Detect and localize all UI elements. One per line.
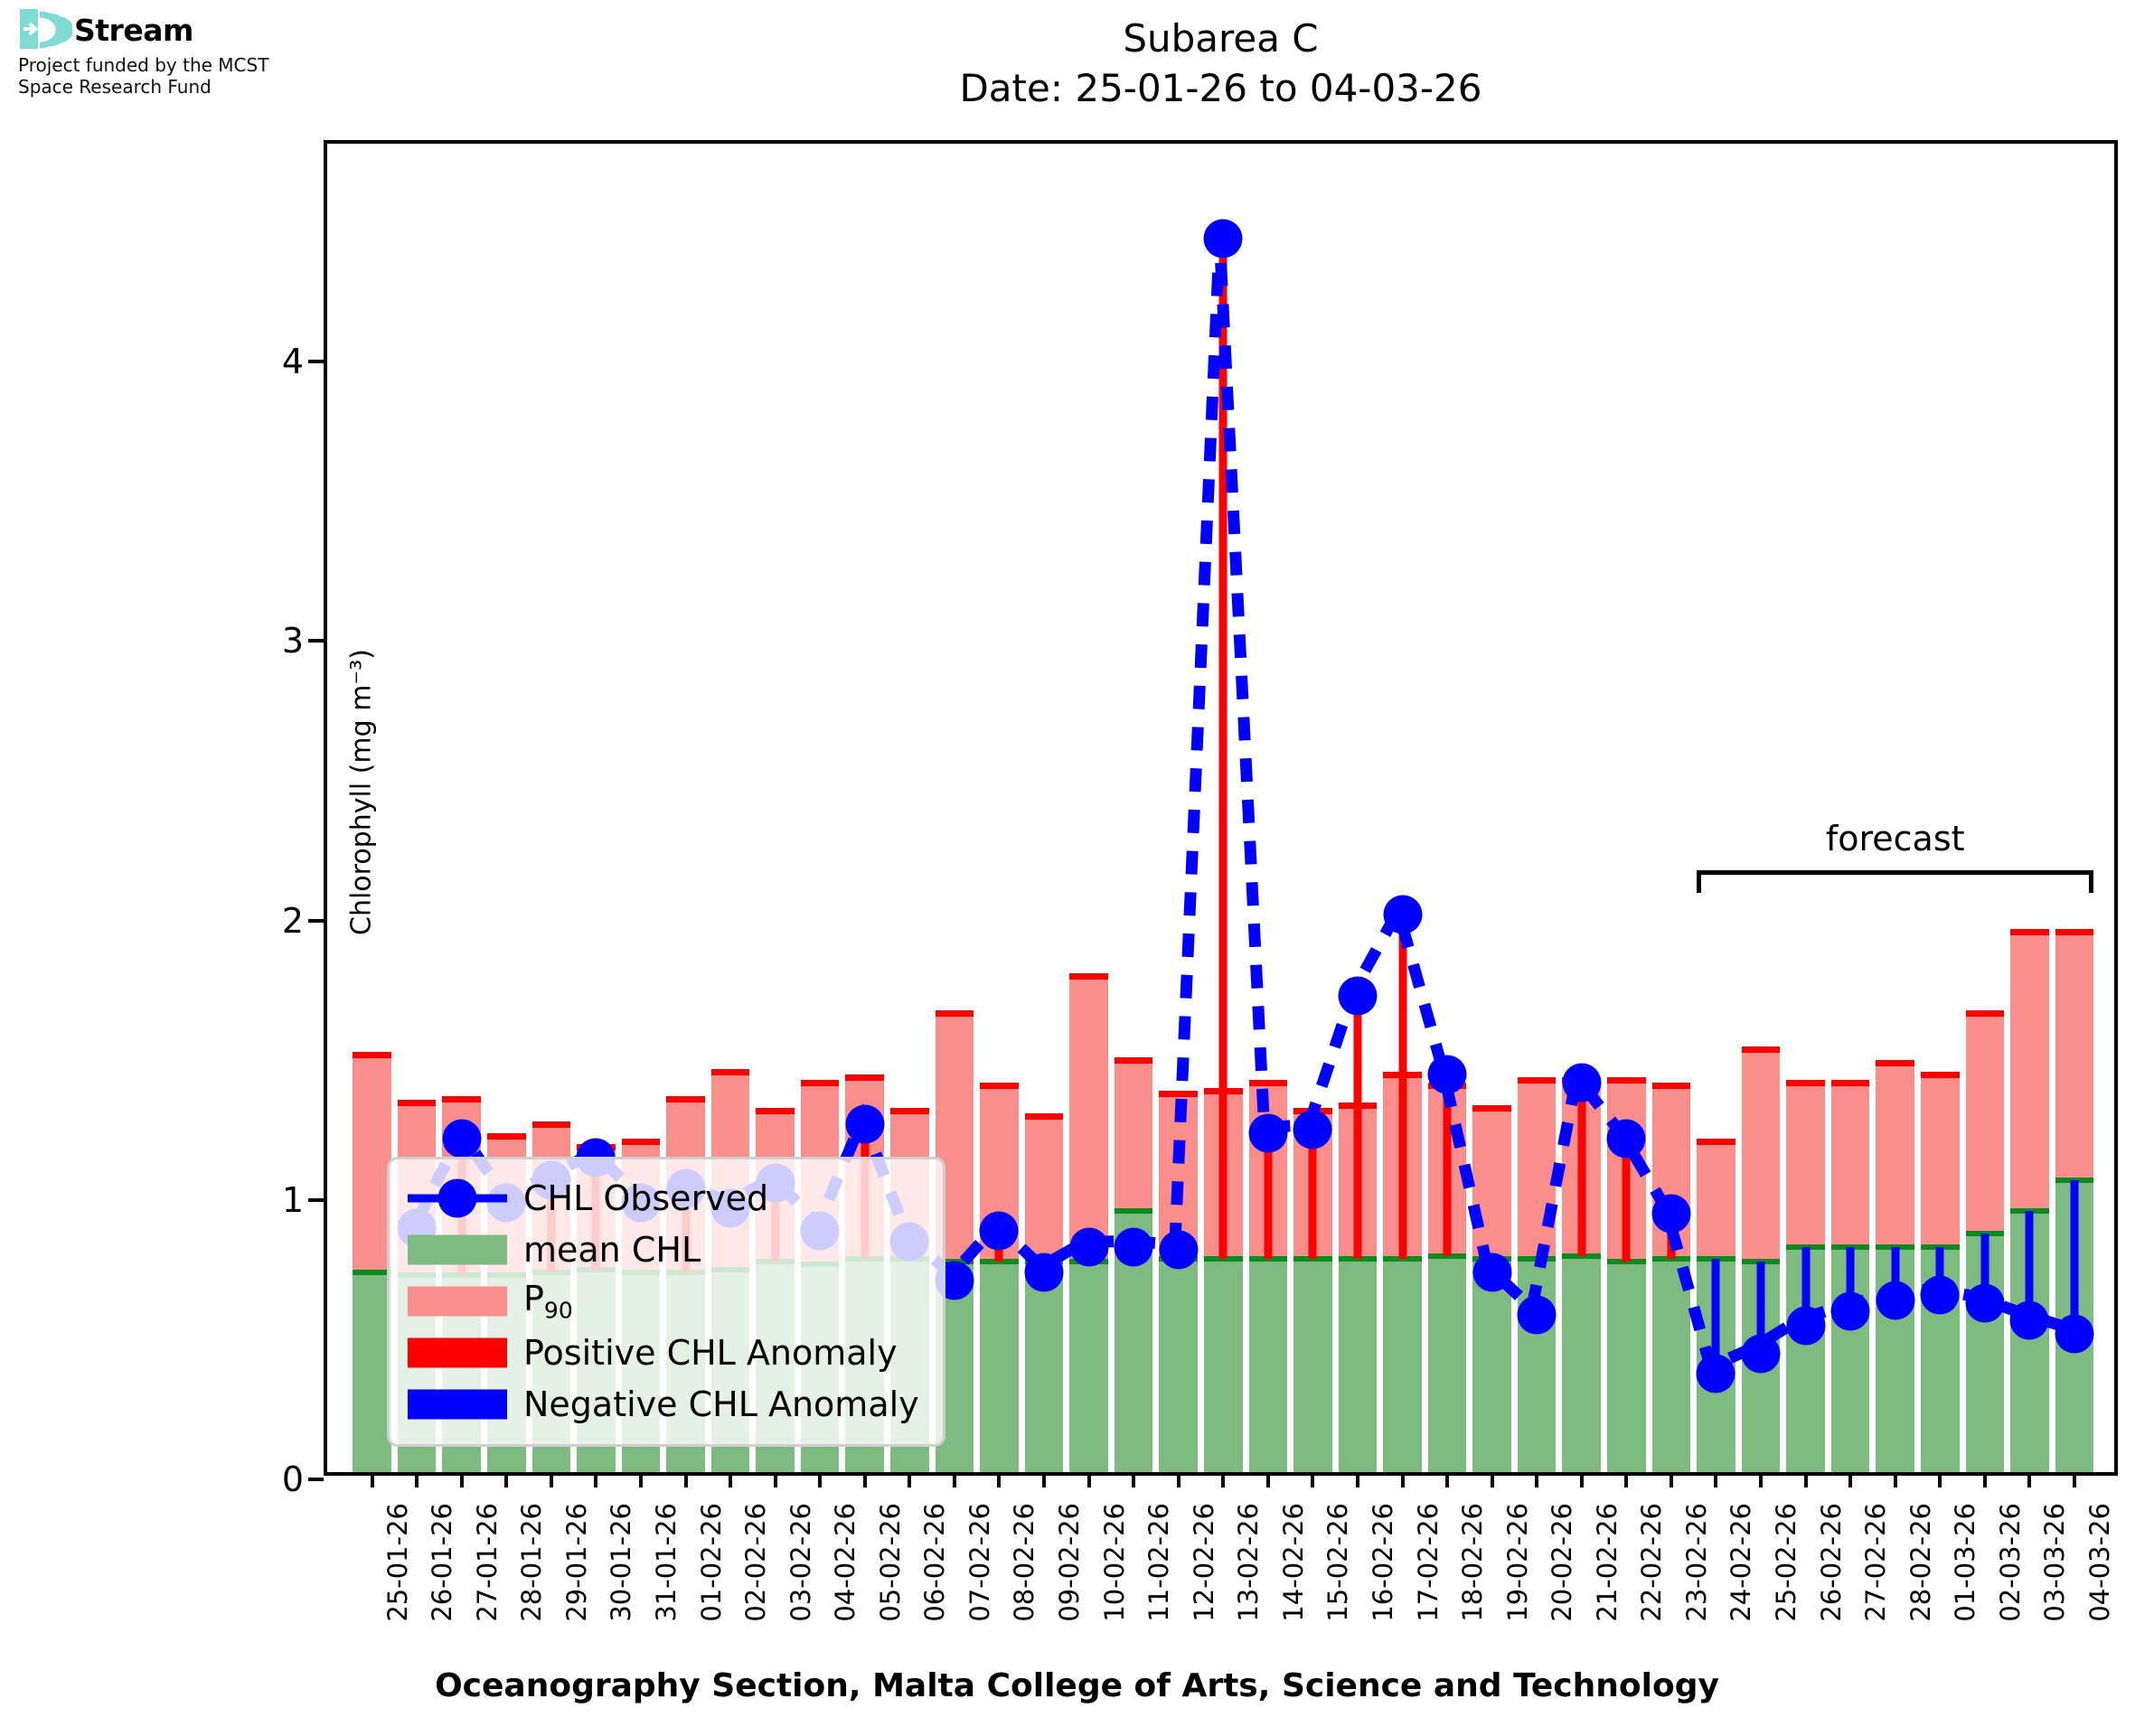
x-axis-tick-mark	[639, 1472, 643, 1487]
legend-label: CHL Observed	[523, 1178, 768, 1218]
bar-p90-cap	[980, 1083, 1019, 1089]
bar-p90-cap	[1697, 1139, 1735, 1145]
bar-p90-cap	[711, 1069, 750, 1075]
legend-label: Positive CHL Anomaly	[523, 1333, 898, 1373]
x-axis-tick-mark	[1759, 1472, 1763, 1487]
x-axis-tick-label: 14-02-26	[1278, 1503, 1309, 1622]
x-axis-tick-label: 08-02-26	[1009, 1503, 1039, 1622]
chl-observed-marker	[1831, 1292, 1870, 1331]
legend-label: Negative CHL Anomaly	[523, 1384, 919, 1424]
x-axis-tick-label: 15-02-26	[1322, 1503, 1353, 1622]
bar-p90-cap	[1607, 1077, 1646, 1084]
legend-item: Positive CHL Anomaly	[408, 1327, 919, 1378]
plot-area: Chlorophyll (mg m⁻³) 01234 25-01-2626-01…	[324, 140, 2118, 1476]
bar-mean-chl	[1652, 1259, 1691, 1472]
x-axis-tick-label: 30-01-26	[606, 1503, 636, 1622]
bar-mean-chl	[1428, 1256, 1467, 1472]
bar-mean-cap	[1518, 1256, 1557, 1262]
bar-p90	[2010, 932, 2049, 1211]
bar-p90-cap	[1159, 1091, 1198, 1097]
legend-swatch-icon	[408, 1327, 507, 1378]
legend-item: mean CHL	[408, 1224, 919, 1275]
chl-observed-marker	[1428, 1055, 1467, 1093]
bar-p90	[353, 1055, 391, 1272]
x-axis-tick-mark	[1535, 1472, 1538, 1487]
x-axis-tick-mark	[1848, 1472, 1852, 1487]
bar-p90-cap	[1069, 973, 1108, 980]
x-axis-tick-label: 17-02-26	[1413, 1503, 1444, 1622]
brand-logo-block: Stream Project funded by the MCST Space …	[18, 7, 316, 98]
bar-p90	[1921, 1074, 1960, 1248]
chart-title: Subarea C Date: 25-01-26 to 04-03-26	[324, 14, 2118, 113]
x-axis-tick-label: 16-02-26	[1368, 1503, 1398, 1622]
bar-p90-cap	[1652, 1083, 1691, 1089]
chl-observed-marker	[1607, 1119, 1646, 1158]
bar-p90	[1472, 1108, 1511, 1259]
chl-observed-marker	[1651, 1195, 1690, 1234]
bar-mean-chl	[1159, 1259, 1198, 1472]
bar-p90-cap	[1786, 1080, 1825, 1086]
x-axis-tick-mark	[2027, 1472, 2031, 1487]
bar-mean-cap	[353, 1270, 391, 1275]
brand-subtitle-line1: Project funded by the MCST	[18, 55, 316, 77]
x-axis-tick-label: 03-02-26	[785, 1503, 816, 1622]
x-axis-tick-mark	[1356, 1472, 1359, 1487]
x-axis-tick-mark	[997, 1472, 1001, 1487]
bar-p90	[1786, 1083, 1825, 1247]
x-axis-tick-label: 07-02-26	[964, 1503, 995, 1622]
bar-p90	[1518, 1080, 1557, 1259]
x-axis-tick-label: 20-02-26	[1547, 1503, 1577, 1622]
bar-p90	[1966, 1013, 2005, 1234]
bar-p90-cap	[1472, 1105, 1511, 1112]
bar-mean-chl	[1249, 1259, 1288, 1472]
chl-observed-marker	[442, 1119, 481, 1158]
bar-p90-cap	[1921, 1072, 1960, 1078]
x-axis-tick-label: 21-02-26	[1592, 1503, 1623, 1622]
chl-observed-marker	[1293, 1111, 1332, 1150]
chl-observed-marker	[1786, 1306, 1825, 1345]
chl-observed-marker	[2010, 1300, 2049, 1339]
x-axis-tick-label: 02-02-26	[740, 1503, 771, 1622]
stream-waves-icon	[18, 7, 72, 52]
chl-observed-marker	[1383, 896, 1422, 934]
bar-mean-chl	[980, 1262, 1019, 1472]
bar-p90	[1831, 1083, 1870, 1247]
x-axis-tick-mark	[1624, 1472, 1628, 1487]
legend-label: P90	[523, 1279, 573, 1324]
x-axis-tick-mark	[1804, 1472, 1808, 1487]
x-axis-tick-mark	[594, 1472, 597, 1487]
x-axis-tick-mark	[371, 1472, 374, 1487]
bar-mean-cap	[1115, 1208, 1153, 1214]
bar-p90-cap	[353, 1052, 391, 1058]
chl-observed-marker	[1921, 1275, 1960, 1314]
x-axis-tick-mark	[504, 1472, 508, 1487]
legend-swatch-icon	[408, 1275, 507, 1327]
x-axis-tick-mark	[415, 1472, 419, 1487]
legend-item: CHL Observed	[408, 1172, 919, 1224]
chl-observed-marker	[1876, 1281, 1914, 1320]
y-axis-tick-label: 1	[282, 1180, 324, 1220]
brand-subtitle-line2: Space Research Fund	[18, 77, 316, 99]
positive-anomaly-stem	[1219, 239, 1227, 1259]
x-axis-tick-label: 31-01-26	[651, 1503, 682, 1622]
x-axis-tick-label: 04-02-26	[830, 1503, 861, 1622]
x-axis-tick-label: 23-02-26	[1681, 1503, 1712, 1622]
x-axis-tick-label: 27-01-26	[472, 1503, 503, 1622]
x-axis-tick-mark	[1087, 1472, 1091, 1487]
x-axis-tick-mark	[1938, 1472, 1942, 1487]
x-axis-tick-label: 01-02-26	[696, 1503, 727, 1622]
x-axis-tick-mark	[1983, 1472, 1987, 1487]
chl-observed-marker	[1338, 977, 1377, 1016]
x-axis-tick-mark	[1714, 1472, 1717, 1487]
bar-p90	[1697, 1141, 1735, 1259]
bar-p90-cap	[936, 1010, 974, 1017]
x-axis-tick-mark	[1491, 1472, 1494, 1487]
bar-p90-cap	[442, 1096, 481, 1103]
positive-anomaly-stem	[1444, 1074, 1452, 1256]
bar-mean-chl	[1607, 1262, 1646, 1472]
x-axis-tick-mark	[818, 1472, 822, 1487]
bar-p90-cap	[532, 1121, 571, 1128]
bar-p90	[1876, 1063, 1914, 1247]
chl-observed-marker	[1069, 1228, 1108, 1267]
y-axis-tick-label: 2	[282, 901, 324, 941]
bar-p90-cap	[1518, 1077, 1557, 1084]
brand-name: Stream	[74, 15, 193, 45]
legend-swatch-icon	[408, 1378, 507, 1430]
bar-mean-chl	[353, 1272, 391, 1472]
x-axis-tick-label: 19-02-26	[1502, 1503, 1533, 1622]
x-axis-tick-label: 03-03-26	[2039, 1503, 2070, 1622]
x-axis-tick-label: 26-02-26	[1816, 1503, 1847, 1622]
x-axis-tick-mark	[550, 1472, 553, 1487]
bar-p90-cap	[1025, 1113, 1064, 1120]
bar-p90-cap	[1966, 1010, 2005, 1017]
positive-anomaly-stem	[1577, 1083, 1585, 1256]
x-axis-tick-label: 18-02-26	[1457, 1503, 1488, 1622]
y-axis-tick-label: 3	[282, 621, 324, 661]
bar-p90-cap	[801, 1080, 840, 1086]
negative-anomaly-stem	[2070, 1180, 2078, 1334]
x-axis-tick-mark	[1670, 1472, 1673, 1487]
chl-observed-marker	[1204, 220, 1243, 258]
chl-observed-marker	[1965, 1284, 2004, 1323]
bar-p90-cap	[1831, 1080, 1870, 1086]
x-axis-tick-label: 09-02-26	[1054, 1503, 1085, 1622]
x-axis-tick-mark	[1177, 1472, 1180, 1487]
x-axis-tick-mark	[953, 1472, 956, 1487]
bar-p90-cap	[890, 1108, 929, 1114]
x-axis-tick-mark	[1042, 1472, 1046, 1487]
y-axis-tick-label: 0	[282, 1459, 324, 1499]
x-axis-tick-label: 06-02-26	[919, 1503, 950, 1622]
x-axis-tick-mark	[863, 1472, 867, 1487]
bar-mean-chl	[1339, 1259, 1378, 1472]
chl-observed-marker	[1518, 1295, 1557, 1334]
chl-observed-marker	[1159, 1231, 1198, 1270]
bar-p90	[1069, 976, 1108, 1261]
bar-p90-cap	[2055, 929, 2094, 935]
x-axis-tick-label: 25-01-26	[382, 1503, 413, 1622]
positive-anomaly-stem	[1353, 996, 1361, 1259]
bar-p90-cap	[1249, 1080, 1288, 1086]
x-axis-tick-label: 04-03-26	[2084, 1503, 2115, 1622]
figure-footer: Oceanography Section, Malta College of A…	[0, 1667, 2154, 1704]
bar-p90-cap	[622, 1139, 661, 1145]
bar-p90-cap	[666, 1096, 705, 1103]
bar-p90-cap	[2010, 929, 2049, 935]
bar-mean-chl	[1383, 1259, 1422, 1472]
chart-legend: CHL Observedmean CHLP90Positive CHL Anom…	[387, 1157, 945, 1447]
legend-swatch-icon	[408, 1172, 507, 1224]
legend-swatch-icon	[408, 1224, 507, 1275]
bar-p90	[1742, 1049, 1781, 1262]
bar-mean-chl	[1562, 1256, 1601, 1472]
chl-observed-marker	[1248, 1113, 1287, 1152]
bar-p90-cap	[398, 1100, 437, 1106]
x-axis-tick-mark	[2073, 1472, 2076, 1487]
legend-item: P90	[408, 1275, 919, 1327]
x-axis-tick-label: 11-02-26	[1143, 1503, 1174, 1622]
x-axis-tick-mark	[729, 1472, 732, 1487]
bar-p90	[1025, 1116, 1064, 1262]
chl-observed-marker	[980, 1211, 1019, 1250]
x-axis-tick-mark	[1894, 1472, 1897, 1487]
x-axis-tick-label: 01-03-26	[1950, 1503, 1980, 1622]
x-axis-tick-mark	[1580, 1472, 1584, 1487]
x-axis-tick-mark	[1401, 1472, 1405, 1487]
bar-p90-cap	[1115, 1057, 1153, 1064]
x-axis-tick-mark	[1221, 1472, 1225, 1487]
chl-observed-marker	[1697, 1354, 1735, 1393]
x-axis-tick-label: 10-02-26	[1099, 1503, 1130, 1622]
x-axis-tick-mark	[684, 1472, 688, 1487]
legend-label: mean CHL	[523, 1230, 701, 1270]
chl-observed-marker	[845, 1105, 884, 1144]
bar-mean-chl	[1204, 1259, 1243, 1472]
x-axis-tick-mark	[1445, 1472, 1449, 1487]
bar-mean-chl	[1025, 1262, 1064, 1472]
x-axis-tick-label: 02-03-26	[1995, 1503, 2026, 1622]
forecast-bracket	[1697, 870, 2093, 893]
bar-p90-cap	[487, 1133, 526, 1140]
chl-observed-marker	[1742, 1334, 1781, 1373]
x-axis-tick-label: 27-02-26	[1860, 1503, 1891, 1622]
x-axis-tick-label: 13-02-26	[1233, 1503, 1264, 1622]
bar-p90-cap	[1876, 1060, 1914, 1066]
y-axis-tick-label: 4	[282, 342, 324, 381]
x-axis-tick-label: 29-01-26	[561, 1503, 592, 1622]
x-axis-tick-label: 24-02-26	[1726, 1503, 1756, 1622]
x-axis-tick-mark	[774, 1472, 777, 1487]
x-axis-tick-mark	[460, 1472, 464, 1487]
x-axis-tick-label: 05-02-26	[875, 1503, 906, 1622]
x-axis-tick-label: 28-01-26	[516, 1503, 547, 1622]
bar-p90	[2055, 932, 2094, 1180]
forecast-label: forecast	[1826, 819, 1965, 859]
bar-p90-cap	[1742, 1046, 1781, 1053]
chl-observed-marker	[1562, 1063, 1601, 1102]
x-axis-tick-mark	[1311, 1472, 1314, 1487]
bar-mean-chl	[1518, 1259, 1557, 1472]
chart-title-line1: Subarea C	[324, 14, 2118, 64]
x-axis-tick-mark	[908, 1472, 911, 1487]
chl-observed-marker	[1025, 1253, 1064, 1292]
x-axis-tick-label: 25-02-26	[1771, 1503, 1801, 1622]
bar-mean-chl	[1069, 1262, 1108, 1472]
bar-p90-cap	[756, 1108, 795, 1114]
x-axis-tick-mark	[1132, 1472, 1135, 1487]
chl-observed-marker	[1115, 1228, 1153, 1267]
positive-anomaly-stem	[1398, 915, 1406, 1258]
x-axis-tick-label: 22-02-26	[1636, 1503, 1667, 1622]
bar-p90-cap	[845, 1074, 884, 1081]
legend-item: Negative CHL Anomaly	[408, 1378, 919, 1430]
x-axis-tick-label: 12-02-26	[1189, 1503, 1219, 1622]
x-axis-tick-label: 28-02-26	[1905, 1503, 1936, 1622]
bar-mean-chl	[1293, 1259, 1332, 1472]
chl-observed-marker	[2055, 1315, 2093, 1354]
chart-title-line2: Date: 25-01-26 to 04-03-26	[324, 64, 2118, 114]
x-axis-tick-label: 26-01-26	[427, 1503, 457, 1622]
bar-p90	[1115, 1060, 1153, 1211]
chl-observed-marker	[1472, 1253, 1511, 1292]
x-axis-tick-mark	[1266, 1472, 1270, 1487]
